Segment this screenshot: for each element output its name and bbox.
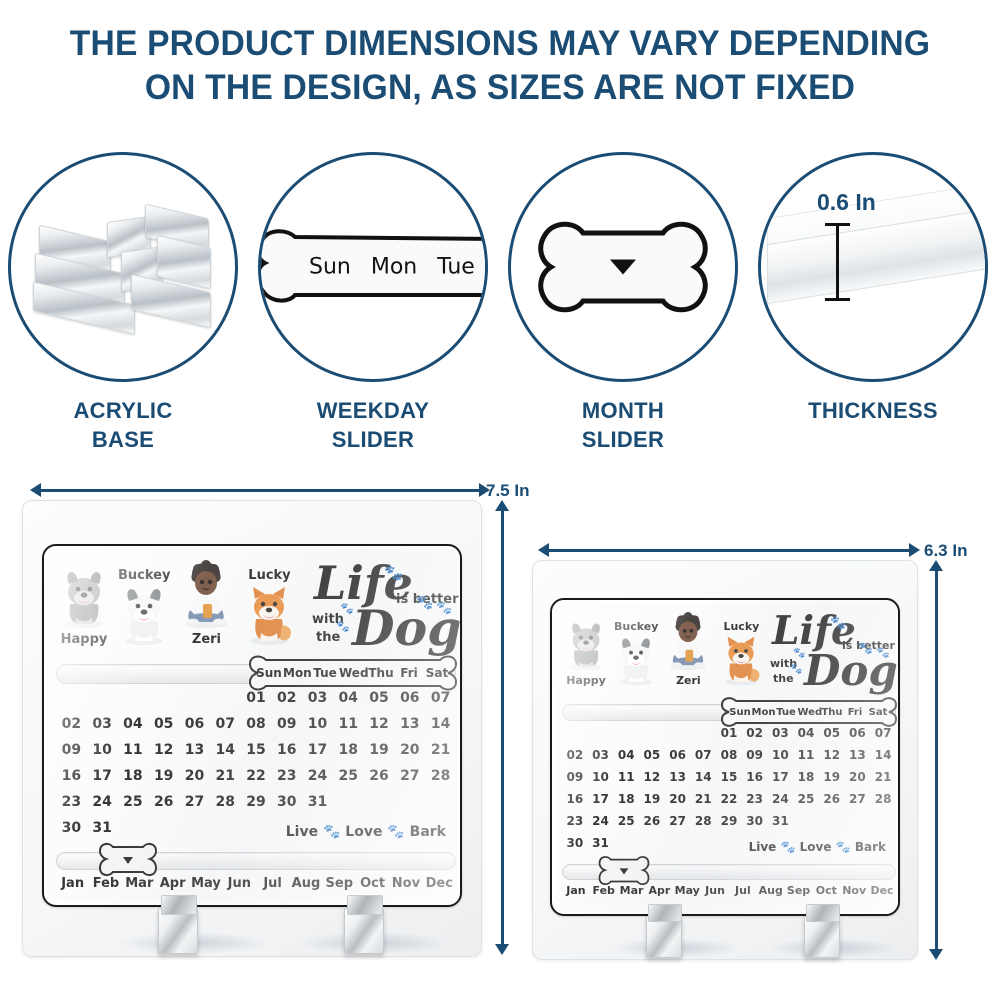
month-label[interactable]: Jan [56,876,89,891]
calendar-day-cell: 30 [562,836,588,858]
weekday-label: Fri [395,666,423,680]
calendar-row: 16171819202122232425262728 [562,792,896,814]
calendar-day-cell: 17 [87,768,118,794]
calendar-day-cell: 18 [613,792,639,814]
pet-happy: Happy [564,620,608,687]
page-title: THE PRODUCT DIMENSIONS MAY VARY DEPENDIN… [0,22,1000,110]
calendar-day-cell: 12 [639,770,665,792]
feature-caption-line2: SLIDER [582,427,664,452]
calendar-day-cell: 06 [665,748,691,770]
calendar-row: 02030405060708091011121314 [562,748,896,770]
feature-caption-line1: WEEKDAY [317,398,430,423]
calendar-day-cell: 10 [768,748,794,770]
weekday-label: Sat [423,666,451,680]
calendar-cell-empty [179,690,210,716]
calendar-cell-empty [588,726,614,748]
calendar-day-cell: 19 [148,768,179,794]
calendar-day-cell: 02 [56,716,87,742]
calendar-day-cell: 04 [118,716,149,742]
calendar-cell-empty [613,726,639,748]
calendar-day-cell: 01 [241,690,272,716]
calendar-row: 16171819202122232425262728 [56,768,456,794]
calendar-day-cell: 02 [271,690,302,716]
calendar-day-cell: 27 [845,792,871,814]
calendar-cell-empty [148,690,179,716]
calendar-day-cell: 24 [302,768,333,794]
calendar-row: 232425262728293031 [562,814,896,836]
calendar-day-cell: 24 [768,792,794,814]
calendar-day-cell: 14 [425,716,456,742]
calendar-day-cell: 16 [742,770,768,792]
paw-print-icon: 🐾 [340,602,354,615]
calendar-day-cell: 23 [56,794,87,820]
acrylic-slab-edge-icon: 0.6 In [761,155,985,379]
calendar-day-cell: 01 [716,726,742,748]
calendar-day-cell: 11 [613,770,639,792]
month-label[interactable]: Sep [323,876,356,891]
calendar-day-cell: 13 [845,748,871,770]
weekday-label: Fri [844,707,867,718]
pets-row: Happy Buckey [58,560,296,647]
feature-caption: WEEKDAY SLIDER [258,396,488,454]
product-small: Happy Buckey [532,560,916,958]
weekday-label: Sun [309,255,351,280]
calendar-day-cell: 06 [394,690,425,716]
pet-lucky: Lucky [718,620,764,687]
month-label[interactable]: Jun [223,876,256,891]
calendar-day-cell: 12 [364,716,395,742]
calendar-day-cell: 21 [425,742,456,768]
month-slider-circle [508,152,738,382]
calendar-day-cell: 12 [819,748,845,770]
calendar-row: 232425262728293031 [56,794,456,820]
pet-zeri: Zeri [178,560,234,647]
pet-buckey: Buckey [118,568,170,647]
month-label[interactable]: Mar [123,876,156,891]
tagline-live: Live [286,824,318,840]
calendar-day-cell: 18 [333,742,364,768]
calendar-day-cell: 18 [118,768,149,794]
calendar-day-cell: 21 [690,792,716,814]
calendar-day-cell: 16 [271,742,302,768]
month-label[interactable]: Feb [89,876,122,891]
feature-caption-line2: BASE [92,427,154,452]
calendar-day-cell: 09 [742,748,768,770]
pet-name: Happy [58,632,110,647]
month-labels-small: JanFebMarAprMayJunJulAugSepOctNovDec [562,884,896,897]
calendar-day-cell: 26 [148,794,179,820]
feature-caption: THICKNESS [758,396,988,425]
height-arrow-large [492,500,512,955]
weekday-label: Sun [255,666,283,680]
month-label[interactable]: Sep [785,884,813,897]
pet-lucky: Lucky [242,568,296,647]
calendar-grid-small: 0102030405060702030405060708091011121314… [562,726,896,858]
calendar-day-cell: 10 [87,742,118,768]
month-labels-large: JanFebMarAprMayJunJulAugSepOctNovDec [56,876,456,891]
weekday-slider-labels: Sun Mon Tue Wed Thu Fri Sat [720,696,898,728]
calendar-day-cell: 14 [870,748,896,770]
acrylic-base-blocks-icon [33,197,213,337]
feature-weekday-slider: Sun Mon Tue WEEKDAY SLIDER [258,152,488,454]
calendar-day-cell: 23 [271,768,302,794]
calendar-cell-empty [690,726,716,748]
calendar-day-cell: 07 [690,748,716,770]
calendar-day-cell: 03 [302,690,333,716]
feature-caption-line2: SLIDER [332,427,414,452]
pet-name: Lucky [718,620,764,633]
calendar-day-cell: 30 [56,820,87,846]
calendar-day-cell: 03 [87,716,118,742]
calendar-day-cell: 05 [819,726,845,748]
weekday-label: Tue [775,707,798,718]
acrylic-stand-left [646,916,682,958]
acrylic-base-circle [8,152,238,382]
tagline-love: Love [800,840,832,854]
infographic-canvas: THE PRODUCT DIMENSIONS MAY VARY DEPENDIN… [0,0,1000,1000]
calendar-day-cell: 25 [333,768,364,794]
calendar-cell-empty [210,690,241,716]
calendar-day-cell: 10 [588,770,614,792]
month-slider-marker-icon [610,260,636,275]
weekday-label: Mon [752,707,775,718]
weekday-label: Tue [311,666,339,680]
pet-name: Lucky [242,568,296,583]
pet-name: Buckey [614,620,658,633]
calendar-day-cell: 05 [639,748,665,770]
weekday-label: Sun [729,707,752,718]
month-label[interactable]: Oct [812,884,840,897]
month-label[interactable]: Mar [618,884,646,897]
calendar-day-cell: 14 [210,742,241,768]
calendar-day-cell: 27 [179,794,210,820]
calendar-day-cell: 07 [870,726,896,748]
calendar-day-cell: 04 [793,726,819,748]
paw-print-icon: 🐾 [858,641,873,655]
calendar-cell-empty [87,690,118,716]
width-label-large: 7.5 In [486,481,529,501]
calendar-day-cell: 25 [793,792,819,814]
feature-month-slider: MONTH SLIDER [508,152,738,454]
calendar-day-cell: 06 [179,716,210,742]
calendar-day-cell: 13 [665,770,691,792]
calendar-day-cell: 24 [87,794,118,820]
calendar-day-cell: 03 [768,726,794,748]
pet-name: Buckey [118,568,170,583]
calendar-day-cell: 18 [793,770,819,792]
calendar-day-cell: 20 [179,768,210,794]
calendar-day-cell: 28 [425,768,456,794]
tagline-large: Live 🐾 Love 🐾 Bark [286,824,446,840]
calendar-day-cell: 27 [665,814,691,836]
calendar-day-cell: 03 [588,748,614,770]
calendar-day-cell: 20 [665,792,691,814]
calendar-day-cell: 28 [690,814,716,836]
feature-thickness: 0.6 In THICKNESS [758,152,988,425]
paw-print-icon: 🐾 [384,564,403,582]
calendar-day-cell: 22 [241,768,272,794]
width-arrow-large [30,480,490,500]
calendar-day-cell: 05 [148,716,179,742]
calendar-day-cell: 06 [845,726,871,748]
month-bone-icon [537,219,709,315]
acrylic-stand-right [804,916,840,958]
weekday-label: Mon [371,255,417,280]
month-label[interactable]: Aug [289,876,322,891]
calendar-day-cell: 26 [639,814,665,836]
month-label[interactable]: Jun [701,884,729,897]
calendar-row: 09101112131415161718192021 [56,742,456,768]
calendar-day-cell: 25 [118,794,149,820]
pets-row: Happy Buckey [564,612,764,687]
calendar-day-cell: 17 [588,792,614,814]
month-label[interactable]: May [673,884,701,897]
calendar-day-cell: 22 [716,792,742,814]
calendar-day-cell: 09 [271,716,302,742]
month-label[interactable]: Nov [389,876,422,891]
calendar-day-cell: 07 [210,716,241,742]
calendar-day-cell: 29 [241,794,272,820]
thickness-measure-bar [836,223,839,301]
calendar-day-cell: 20 [394,742,425,768]
month-label[interactable]: Nov [840,884,868,897]
pet-name: Happy [564,674,608,687]
paw-print-icon: 🐾 [781,840,796,854]
calendar-day-cell: 17 [768,770,794,792]
tagline-live: Live [749,840,777,854]
width-arrow-small [538,540,920,560]
month-label[interactable]: Dec [868,884,896,897]
calendar-day-cell: 25 [613,814,639,836]
month-label[interactable]: May [189,876,222,891]
calendar-day-cell: 31 [302,794,333,820]
weekday-slider-labels: Sun Mon Tue Wed Thu Fri Sat [248,654,458,692]
tagline-small: Live 🐾 Love 🐾 Bark [749,840,886,854]
weekday-slider-small[interactable]: Sun Mon Tue Wed Thu Fri Sat [720,696,898,728]
calendar-day-cell: 31 [768,814,794,836]
paw-print-icon: 🐾 [830,615,846,631]
calendar-day-cell: 30 [742,814,768,836]
product-large: Happy Buckey [22,500,480,955]
calendar-day-cell: 29 [716,814,742,836]
weekday-label: Sat [867,707,890,718]
feature-acrylic-base: ACRYLIC BASE [8,152,238,454]
calendar-day-cell: 11 [793,748,819,770]
calendar-day-cell: 10 [302,716,333,742]
pet-zeri: Zeri [664,612,712,687]
calendar-cell-empty [118,690,149,716]
thickness-circle: 0.6 In [758,152,988,382]
calendar-day-cell: 26 [819,792,845,814]
tagline-love: Love [345,824,382,840]
calendar-day-cell: 28 [870,792,896,814]
weekday-label: Thu [367,666,395,680]
paw-print-icon: 🐾 [793,648,805,659]
feature-caption-line1: ACRYLIC [73,398,172,423]
paw-print-icon: 🐾 [836,840,851,854]
pet-happy: Happy [58,568,110,647]
calendar-cell-empty [562,726,588,748]
feature-caption-line1: MONTH [582,398,664,423]
calendar-day-cell: 27 [394,768,425,794]
paw-print-icon: 🐾 [323,824,340,840]
month-label[interactable]: Feb [590,884,618,897]
calendar-row: 01020304050607 [562,726,896,748]
weekday-slider-large[interactable]: Sun Mon Tue Wed Thu Fri Sat [248,654,458,692]
pet-buckey: Buckey [614,620,658,687]
calendar-row: 09101112131415161718192021 [562,770,896,792]
calendar-day-cell: 04 [613,748,639,770]
month-slider-small[interactable] [596,855,652,887]
calendar-day-cell: 08 [716,748,742,770]
calendar-row: 02030405060708091011121314 [56,716,456,742]
month-label[interactable]: Apr [156,876,189,891]
calendar-day-cell: 23 [562,814,588,836]
calendar-face-small: Happy Buckey [550,598,900,916]
calendar-day-cell: 17 [302,742,333,768]
feature-caption-line1: THICKNESS [808,398,938,423]
calendar-day-cell: 23 [742,792,768,814]
calendar-day-cell: 05 [364,690,395,716]
brand-logo-small: Life is better with the Dogs 🐾 🐾 🐾 🐾 🐾 [768,612,896,696]
calendar-day-cell: 09 [562,770,588,792]
paw-print-icon: 🐾 [436,600,452,616]
weekday-label: Tue [437,255,475,280]
calendar-day-cell: 07 [425,690,456,716]
brand-logo-large: Life is better with the Dogs 🐾 🐾 🐾 🐾 🐾 [310,560,460,656]
calendar-day-cell: 15 [716,770,742,792]
calendar-day-cell: 28 [210,794,241,820]
month-label[interactable]: Dec [423,876,456,891]
headline-line-1: THE PRODUCT DIMENSIONS MAY VARY DEPENDIN… [20,22,980,66]
calendar-cell-empty [56,690,87,716]
weekday-slider-circle: Sun Mon Tue [258,152,488,382]
calendar-day-cell: 13 [394,716,425,742]
calendar-day-cell: 12 [148,742,179,768]
acrylic-stand-right [344,908,384,954]
month-label[interactable]: Jan [562,884,590,897]
calendar-day-cell: 20 [845,770,871,792]
calendar-day-cell: 14 [690,770,716,792]
calendar-cell-empty [639,726,665,748]
feature-row: ACRYLIC BASE Sun Mon Tue [0,152,1000,472]
calendar-day-cell: 08 [241,716,272,742]
calendar-day-cell: 19 [639,792,665,814]
pet-name: Zeri [664,674,712,687]
calendar-day-cell: 21 [210,768,241,794]
month-label[interactable]: Jul [729,884,757,897]
width-label-small: 6.3 In [924,541,967,561]
calendar-day-cell: 19 [819,770,845,792]
calendar-day-cell: 26 [364,768,395,794]
calendar-day-cell: 09 [56,742,87,768]
calendar-day-cell: 11 [118,742,149,768]
weekday-label: Wed [798,707,821,718]
month-label[interactable]: Apr [645,884,673,897]
month-label[interactable]: Aug [757,884,785,897]
paw-print-icon: 🐾 [336,620,350,633]
calendar-day-cell: 16 [562,792,588,814]
paw-print-icon: 🐾 [790,664,802,675]
calendar-day-cell: 21 [870,770,896,792]
tagline-bark: Bark [410,824,446,840]
calendar-day-cell: 04 [333,690,364,716]
weekday-label: Wed [339,666,367,680]
weekday-label: Thu [821,707,844,718]
calendar-day-cell: 16 [56,768,87,794]
calendar-day-cell: 11 [333,716,364,742]
weekday-bone-icon: Sun Mon Tue [258,229,488,305]
calendar-face-large: Happy Buckey [42,544,462,907]
calendar-day-cell: 24 [588,814,614,836]
calendar-cell-empty [665,726,691,748]
calendar-row: 01020304050607 [56,690,456,716]
paw-print-icon: 🐾 [876,646,890,659]
height-arrow-small [926,560,946,960]
month-label[interactable]: Jul [256,876,289,891]
paw-print-icon: 🐾 [387,824,404,840]
calendar-day-cell: 02 [742,726,768,748]
thickness-value: 0.6 In [817,189,876,216]
month-label[interactable]: Oct [356,876,389,891]
acrylic-stand-left [158,908,198,954]
feature-caption: ACRYLIC BASE [8,396,238,454]
weekday-label: Mon [283,666,311,680]
tagline-bark: Bark [855,840,886,854]
calendar-day-cell: 19 [364,742,395,768]
headline-line-2: ON THE DESIGN, AS SIZES ARE NOT FIXED [20,66,980,110]
calendar-grid-large: 0102030405060702030405060708091011121314… [56,690,456,846]
feature-caption: MONTH SLIDER [508,396,738,454]
calendar-day-cell: 02 [562,748,588,770]
calendar-day-cell: 15 [241,742,272,768]
pet-name: Zeri [178,632,234,647]
calendar-day-cell: 13 [179,742,210,768]
paw-print-icon: 🐾 [416,594,433,611]
weekday-labels: Sun Mon Tue [309,255,475,280]
month-slider-large[interactable] [96,842,160,878]
calendar-day-cell: 30 [271,794,302,820]
